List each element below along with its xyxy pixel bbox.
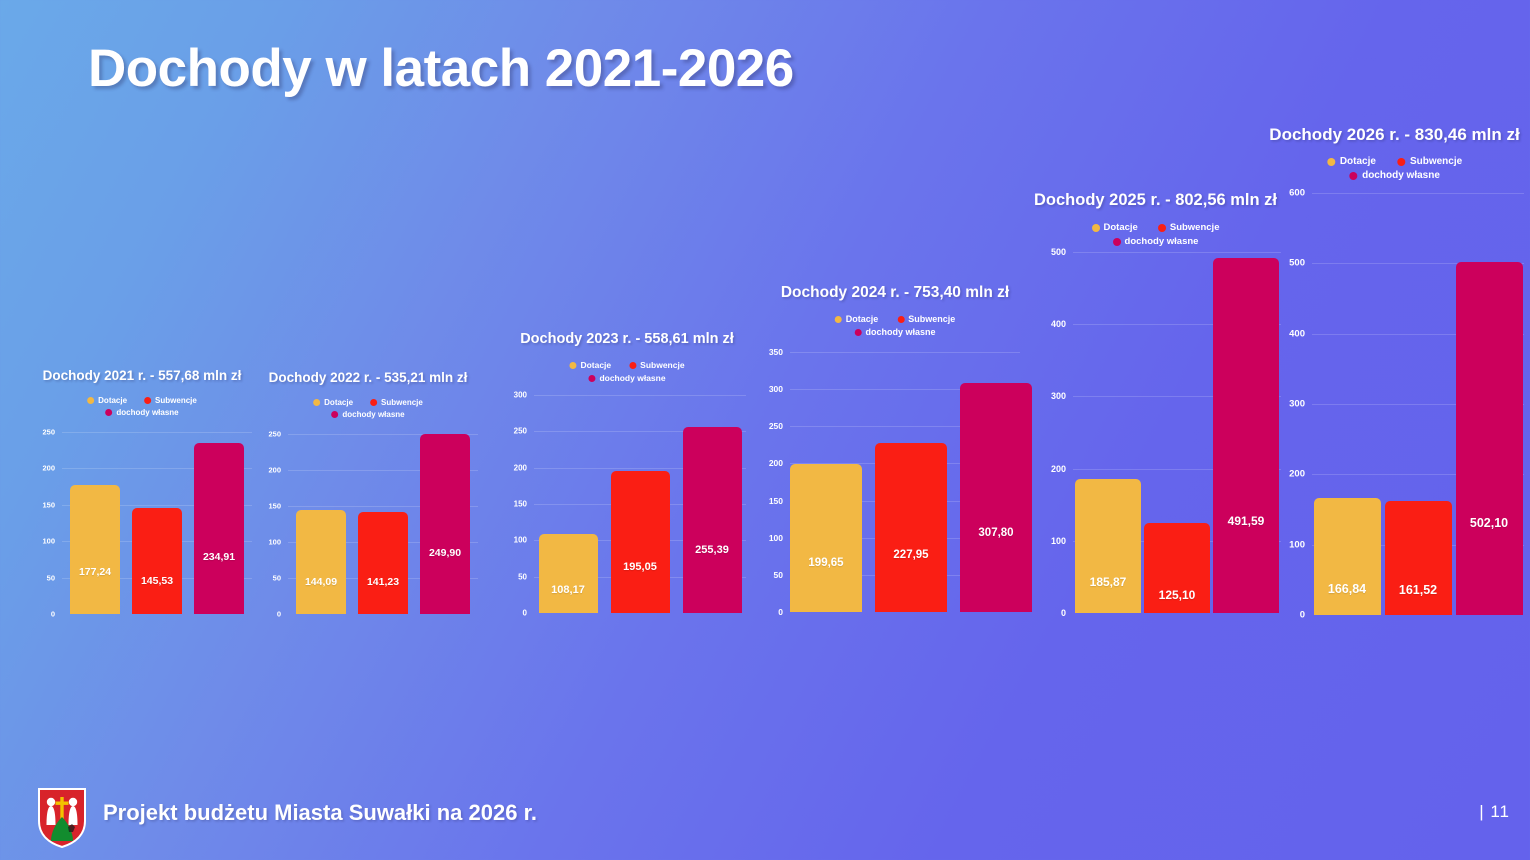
- page-title: Dochody w latach 2021-2026: [88, 38, 794, 99]
- bar-2026-dochody-własne[interactable]: 502,10: [1456, 262, 1523, 615]
- bar-value-label: 195,05: [611, 561, 670, 573]
- legend-row-top: DotacjeSubwencje: [1327, 156, 1462, 167]
- legend-label-1: Subwencje: [1170, 222, 1220, 233]
- bar-2021-dochody-własne[interactable]: 234,91: [194, 443, 244, 614]
- legend-dot-icon-0: [569, 362, 576, 369]
- legend-row-bottom: dochody własne: [854, 327, 935, 337]
- bar-value-label: 491,59: [1213, 514, 1279, 528]
- bar-2025-subwencje[interactable]: 125,10: [1144, 523, 1210, 613]
- y-axis-tick: 300: [769, 384, 783, 394]
- legend-dot-icon-2: [1113, 238, 1121, 246]
- legend-row-top: DotacjeSubwencje: [1092, 222, 1220, 233]
- y-axis-tick: 50: [47, 573, 55, 582]
- legend-dot-icon-2: [1349, 172, 1357, 180]
- legend-dot-icon-1: [144, 397, 151, 404]
- bar-value-label: 108,17: [539, 584, 598, 596]
- bar-2026-subwencje[interactable]: 161,52: [1385, 501, 1452, 615]
- legend-row-bottom: dochody własne: [1349, 170, 1440, 181]
- legend-item-1[interactable]: Subwencje: [370, 398, 423, 407]
- plot-area-2023: 050100150200250300108,17195,05255,39: [534, 395, 746, 613]
- legend-item-2[interactable]: dochody własne: [105, 408, 178, 417]
- bar-2025-dotacje[interactable]: 185,87: [1075, 479, 1141, 613]
- y-axis-tick: 150: [268, 502, 281, 511]
- legend-label-1: Subwencje: [381, 398, 423, 407]
- legend-dot-icon-1: [370, 399, 377, 406]
- bar-2021-subwencje[interactable]: 145,53: [132, 508, 182, 614]
- bar-value-label: 502,10: [1456, 516, 1523, 530]
- chart-legend-2021: DotacjeSubwencjedochody własne: [87, 396, 197, 417]
- y-axis-tick: 100: [268, 538, 281, 547]
- plot-area-2021: 050100150200250177,24145,53234,91: [62, 432, 252, 614]
- gridline: [534, 395, 746, 396]
- y-axis-tick: 50: [774, 570, 783, 580]
- y-axis-tick: 100: [514, 536, 527, 545]
- plot-area-2022: 050100150200250144,09141,23249,90: [288, 434, 478, 614]
- legend-label-1: Subwencje: [155, 396, 197, 405]
- legend-label-2: dochody własne: [1362, 170, 1440, 181]
- y-axis-tick: 100: [42, 537, 55, 546]
- chart-legend-2023: DotacjeSubwencjedochody własne: [569, 360, 684, 383]
- y-axis-tick: 100: [1051, 536, 1066, 546]
- y-axis-tick: 500: [1289, 258, 1305, 269]
- legend-item-0[interactable]: Dotacje: [1092, 222, 1138, 233]
- bar-2022-dotacje[interactable]: 144,09: [296, 510, 346, 614]
- bar-2024-dotacje[interactable]: 199,65: [790, 464, 862, 612]
- bar-value-label: 177,24: [70, 566, 120, 578]
- legend-item-0[interactable]: Dotacje: [1327, 156, 1376, 167]
- y-axis-tick: 300: [514, 391, 527, 400]
- legend-item-1[interactable]: Subwencje: [897, 314, 955, 324]
- y-axis-tick: 300: [1289, 399, 1305, 410]
- y-axis-tick: 50: [518, 572, 527, 581]
- y-axis-tick: 0: [1061, 608, 1066, 618]
- bar-value-label: 166,84: [1314, 582, 1381, 596]
- legend-label-2: dochody własne: [599, 373, 665, 383]
- bar-2022-subwencje[interactable]: 141,23: [358, 512, 408, 614]
- y-axis-tick: 250: [42, 428, 55, 437]
- legend-item-2[interactable]: dochody własne: [588, 373, 665, 383]
- y-axis-tick: 200: [514, 463, 527, 472]
- legend-dot-icon-0: [835, 316, 842, 323]
- bar-2021-dotacje[interactable]: 177,24: [70, 485, 120, 614]
- chart-title-2026: Dochody 2026 r. - 830,46 mln zł: [1269, 125, 1519, 145]
- legend-item-1[interactable]: Subwencje: [629, 360, 684, 370]
- y-axis-tick: 200: [42, 464, 55, 473]
- gridline: [1312, 193, 1524, 194]
- plot-area-2025: 0100200300400500185,87125,10491,59: [1073, 252, 1281, 613]
- legend-row-bottom: dochody własne: [1113, 236, 1199, 247]
- legend-label-0: Dotacje: [846, 314, 879, 324]
- legend-row-bottom: dochody własne: [105, 408, 178, 417]
- y-axis-tick: 100: [769, 533, 783, 543]
- chart-title-2023: Dochody 2023 r. - 558,61 mln zł: [520, 331, 734, 347]
- y-axis-tick: 50: [273, 574, 281, 583]
- bar-value-label: 144,09: [296, 576, 346, 588]
- gridline: [790, 352, 1020, 353]
- y-axis-tick: 500: [1051, 247, 1066, 257]
- y-axis-tick: 400: [1051, 319, 1066, 329]
- legend-dot-icon-2: [854, 329, 861, 336]
- legend-item-2[interactable]: dochody własne: [331, 410, 404, 419]
- footer-title: Projekt budżetu Miasta Suwałki na 2026 r…: [103, 800, 537, 826]
- bar-value-label: 227,95: [875, 549, 947, 561]
- chart-title-2024: Dochody 2024 r. - 753,40 mln zł: [781, 284, 1009, 302]
- y-axis-tick: 0: [523, 609, 527, 618]
- legend-dot-icon-2: [105, 409, 112, 416]
- legend-row-top: DotacjeSubwencje: [87, 396, 197, 405]
- legend-item-0[interactable]: Dotacje: [87, 396, 127, 405]
- chart-title-2021: Dochody 2021 r. - 557,68 mln zł: [43, 368, 242, 383]
- bar-value-label: 185,87: [1075, 575, 1141, 589]
- legend-label-0: Dotacje: [1104, 222, 1138, 233]
- y-axis-tick: 150: [514, 500, 527, 509]
- y-axis-tick: 600: [1289, 188, 1305, 199]
- bar-2022-dochody-własne[interactable]: 249,90: [420, 434, 470, 614]
- legend-label-0: Dotacje: [98, 396, 127, 405]
- y-axis-tick: 250: [769, 421, 783, 431]
- chart-legend-2025: DotacjeSubwencjedochody własne: [1092, 222, 1220, 247]
- legend-dot-icon-0: [1092, 224, 1100, 232]
- legend-label-2: dochody własne: [1125, 236, 1199, 247]
- y-axis-tick: 200: [1289, 469, 1305, 480]
- legend-dot-icon-2: [588, 375, 595, 382]
- legend-label-2: dochody własne: [865, 327, 935, 337]
- y-axis-tick: 150: [769, 496, 783, 506]
- gridline: [1073, 252, 1281, 253]
- coat-of-arms-icon: [37, 787, 87, 849]
- bar-value-label: 145,53: [132, 575, 182, 587]
- legend-dot-icon-2: [331, 411, 338, 418]
- legend-dot-icon-1: [629, 362, 636, 369]
- y-axis-tick: 100: [1289, 539, 1305, 550]
- plot-area-2024: 050100150200250300350199,65227,95307,80: [790, 352, 1020, 612]
- legend-dot-icon-1: [1397, 158, 1405, 166]
- bar-2026-dotacje[interactable]: 166,84: [1314, 498, 1381, 615]
- legend-row-top: DotacjeSubwencje: [569, 360, 684, 370]
- legend-item-0[interactable]: Dotacje: [569, 360, 611, 370]
- legend-label-0: Dotacje: [324, 398, 353, 407]
- legend-item-0[interactable]: Dotacje: [313, 398, 353, 407]
- legend-dot-icon-0: [87, 397, 94, 404]
- bar-2024-dochody-własne[interactable]: 307,80: [960, 383, 1032, 612]
- y-axis-tick: 250: [268, 430, 281, 439]
- page-number: | 11: [1479, 802, 1510, 822]
- bar-value-label: 255,39: [683, 544, 742, 556]
- bar-value-label: 307,80: [960, 527, 1032, 539]
- chart-title-2025: Dochody 2025 r. - 802,56 mln zł: [1034, 191, 1277, 210]
- legend-item-1[interactable]: Subwencje: [1397, 156, 1462, 167]
- legend-item-1[interactable]: Subwencje: [1158, 222, 1220, 233]
- y-axis-tick: 0: [1300, 610, 1305, 621]
- bar-2023-dotacje[interactable]: 108,17: [539, 534, 598, 613]
- legend-row-top: DotacjeSubwencje: [835, 314, 956, 324]
- y-axis-tick: 200: [1051, 464, 1066, 474]
- y-axis-tick: 250: [514, 427, 527, 436]
- legend-label-1: Subwencje: [908, 314, 955, 324]
- legend-item-2[interactable]: dochody własne: [1349, 170, 1440, 181]
- y-axis-tick: 0: [51, 610, 55, 619]
- y-axis-tick: 0: [778, 607, 783, 617]
- plot-area-2026: 0100200300400500600166,84161,52502,10: [1312, 193, 1524, 615]
- legend-item-2[interactable]: dochody własne: [854, 327, 935, 337]
- legend-label-2: dochody własne: [342, 410, 404, 419]
- bar-value-label: 125,10: [1144, 588, 1210, 602]
- legend-row-bottom: dochody własne: [331, 410, 404, 419]
- bar-2023-dochody-własne[interactable]: 255,39: [683, 427, 742, 613]
- chart-title-2022: Dochody 2022 r. - 535,21 mln zł: [269, 370, 468, 385]
- y-axis-tick: 300: [1051, 391, 1066, 401]
- legend-item-2[interactable]: dochody własne: [1113, 236, 1199, 247]
- legend-label-0: Dotacje: [580, 360, 611, 370]
- gridline: [62, 432, 252, 433]
- y-axis-tick: 150: [42, 500, 55, 509]
- chart-legend-2026: DotacjeSubwencjedochody własne: [1327, 156, 1462, 181]
- legend-dot-icon-0: [313, 399, 320, 406]
- bar-value-label: 234,91: [194, 551, 244, 563]
- bar-2023-subwencje[interactable]: 195,05: [611, 471, 670, 613]
- bar-value-label: 249,90: [420, 547, 470, 559]
- legend-label-1: Subwencje: [1410, 156, 1462, 167]
- legend-label-2: dochody własne: [116, 408, 178, 417]
- y-axis-tick: 350: [769, 347, 783, 357]
- legend-label-0: Dotacje: [1340, 156, 1376, 167]
- legend-item-0[interactable]: Dotacje: [835, 314, 879, 324]
- y-axis-tick: 200: [268, 466, 281, 475]
- y-axis-tick: 200: [769, 458, 783, 468]
- bar-value-label: 161,52: [1385, 583, 1452, 597]
- legend-dot-icon-0: [1327, 158, 1335, 166]
- legend-dot-icon-1: [1158, 224, 1166, 232]
- chart-legend-2022: DotacjeSubwencjedochody własne: [313, 398, 423, 419]
- bar-value-label: 199,65: [790, 557, 862, 569]
- chart-legend-2024: DotacjeSubwencjedochody własne: [835, 314, 956, 337]
- bar-2025-dochody-własne[interactable]: 491,59: [1213, 258, 1279, 613]
- legend-item-1[interactable]: Subwencje: [144, 396, 197, 405]
- legend-dot-icon-1: [897, 316, 904, 323]
- y-axis-tick: 0: [277, 610, 281, 619]
- legend-label-1: Subwencje: [640, 360, 684, 370]
- bar-2024-subwencje[interactable]: 227,95: [875, 443, 947, 612]
- legend-row-top: DotacjeSubwencje: [313, 398, 423, 407]
- bar-value-label: 141,23: [358, 576, 408, 588]
- y-axis-tick: 400: [1289, 328, 1305, 339]
- legend-row-bottom: dochody własne: [588, 373, 665, 383]
